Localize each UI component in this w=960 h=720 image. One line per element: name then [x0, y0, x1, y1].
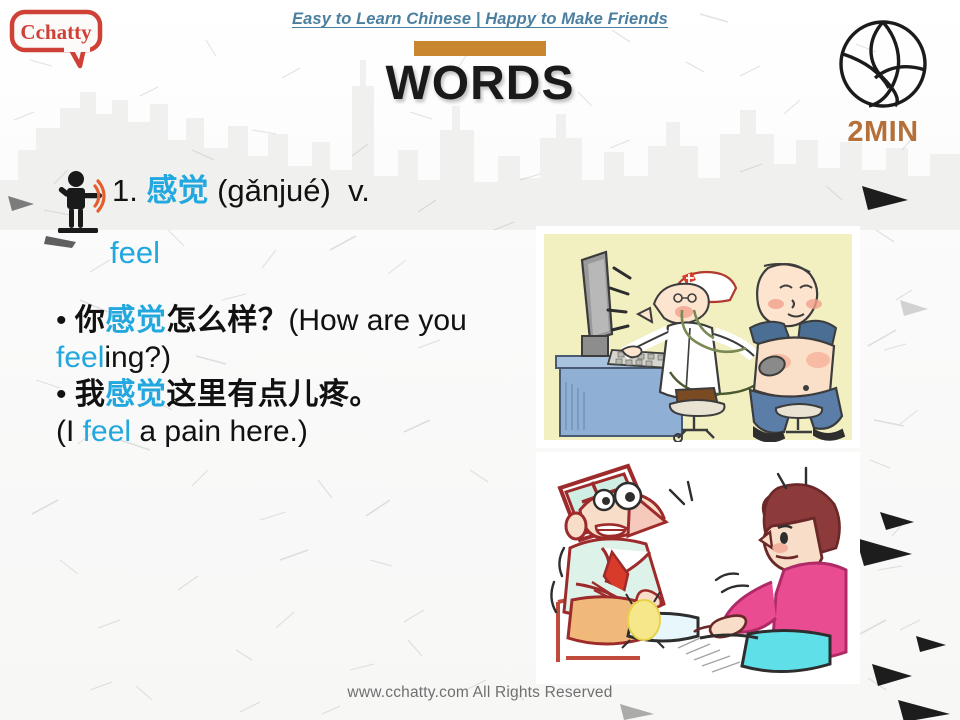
example-cn-pre: 我	[75, 378, 106, 411]
word-entry-block: 1. 感觉 (gǎnjué) v. feel • 你感觉怎么样？(How are…	[54, 168, 504, 451]
example-en-pre: (How are you	[288, 304, 466, 337]
entry-word: 感觉	[146, 173, 208, 208]
entry-headline-row: 1. 感觉 (gǎnjué) v.	[54, 168, 504, 236]
example-en-highlight: feel	[83, 415, 131, 448]
footer-copyright: www.cchatty.com All Rights Reserved	[0, 684, 960, 702]
example-bullet: •	[56, 304, 67, 337]
example-cn-pre: 你	[75, 304, 106, 337]
illustration-1-art	[542, 232, 854, 442]
example-sentence-1: • 你感觉怎么样？(How are you feeling?)	[56, 302, 504, 376]
illustration-2-art	[536, 452, 860, 684]
entry-pinyin: (gǎnjué)	[217, 173, 331, 208]
example-en-highlight: feel	[56, 341, 104, 374]
illustration-doctor-computer	[536, 226, 860, 448]
example-en-post: a pain here.)	[131, 415, 308, 448]
example-sentences: • 你感觉怎么样？(How are you feeling?) • 我感觉这里有…	[54, 302, 504, 451]
example-bullet: •	[56, 378, 67, 411]
timer-badge: 2MIN	[828, 14, 938, 149]
timer-label: 2MIN	[828, 116, 938, 149]
illustration-doctor-patient-talking	[536, 452, 860, 684]
entry-headline: 1. 感觉 (gǎnjué) v.	[112, 168, 370, 210]
example-cn-post: 这里有点儿疼。	[166, 378, 380, 411]
example-en-pre: (I	[56, 415, 83, 448]
page-title: WORDS	[0, 56, 960, 111]
example-en-post: ing?)	[104, 341, 171, 374]
person-pointing-icon	[54, 170, 106, 236]
example-cn-highlight: 感觉	[105, 378, 166, 411]
slide: Cchatty Easy to Learn Chinese | Happy to…	[0, 0, 960, 720]
basketball-icon	[833, 14, 933, 114]
title-accent-bar	[414, 41, 546, 56]
tagline: Easy to Learn Chinese | Happy to Make Fr…	[0, 10, 960, 29]
example-cn-post: 怎么样？	[166, 304, 288, 337]
example-sentence-2: • 我感觉这里有点儿疼。(I feel a pain here.)	[56, 376, 504, 450]
entry-number: 1.	[112, 173, 138, 208]
entry-part-of-speech: v.	[348, 173, 370, 208]
entry-gloss: feel	[54, 234, 504, 272]
example-cn-highlight: 感觉	[105, 304, 166, 337]
